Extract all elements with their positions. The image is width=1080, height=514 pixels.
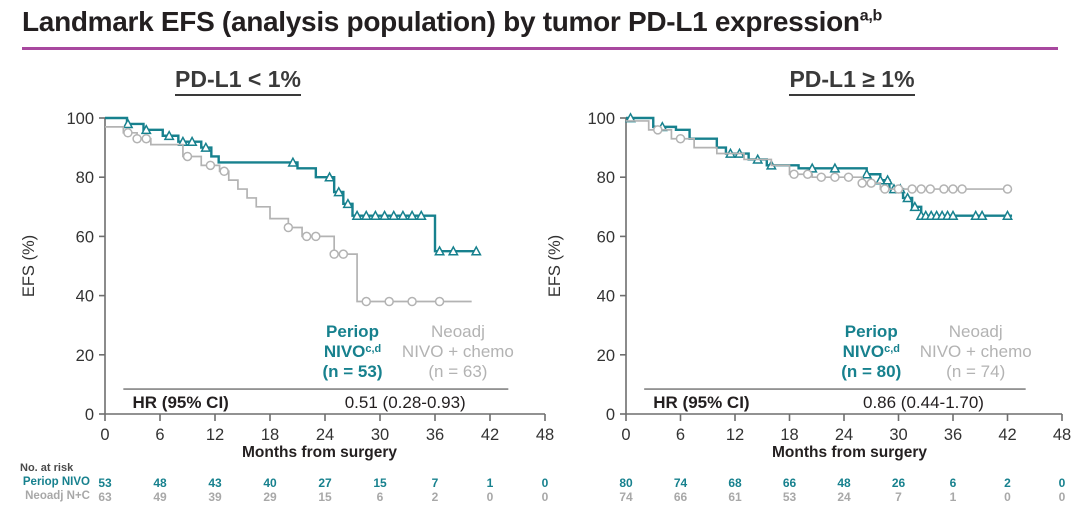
panel-pdl1-lt1: PD-L1 < 1% 020406080100EFS (%)0612182430… [0, 56, 560, 506]
page-title: Landmark EFS (analysis population) by tu… [22, 6, 1062, 38]
hr-value: 0.51 (0.28-0.93) [345, 393, 466, 412]
at-risk-value: 74 [669, 476, 693, 490]
at-risk-value: 39 [203, 490, 227, 504]
censor-mark-triangle [978, 211, 986, 219]
censor-mark-triangle [371, 211, 379, 219]
at-risk-value: 6 [368, 490, 392, 504]
legend-neoadj-line1: Neoadj [949, 322, 1003, 341]
censor-mark-triangle [417, 211, 425, 219]
at-risk-value: 29 [258, 490, 282, 504]
censor-mark-circle [362, 298, 370, 306]
hr-value: 0.86 (0.44-1.70) [863, 393, 984, 412]
censor-mark-circle [908, 185, 916, 193]
legend-periop-n: (n = 53) [323, 362, 383, 381]
y-tick-label: 60 [597, 228, 615, 246]
at-risk-value: 80 [614, 476, 638, 490]
y-tick-label: 0 [606, 406, 615, 424]
censor-mark-triangle [883, 176, 891, 184]
censor-mark-triangle [472, 247, 480, 255]
at-risk-value: 7 [887, 490, 911, 504]
at-risk-value: 66 [669, 490, 693, 504]
censor-mark-circle [330, 250, 338, 258]
censor-mark-triangle [325, 173, 333, 181]
at-risk-value: 0 [996, 490, 1020, 504]
censor-mark-circle [436, 298, 444, 306]
at-risk-value: 2 [423, 490, 447, 504]
censor-mark-triangle [831, 164, 839, 172]
legend-periop-line1: Periop [845, 322, 898, 341]
censor-mark-circle [958, 185, 966, 193]
x-axis-title-left: Months from surgery [242, 444, 397, 462]
legend-periop-n: (n = 80) [841, 362, 901, 381]
at-risk-value: 66 [778, 476, 802, 490]
censor-mark-circle [677, 135, 685, 143]
censor-mark-circle [184, 152, 192, 160]
at-risk-value: 43 [203, 476, 227, 490]
at-risk-row-label-periop: Periop NIVO [10, 476, 90, 488]
legend-neoadj-n: (n = 74) [946, 362, 1005, 381]
slide-root: Landmark EFS (analysis population) by tu… [0, 0, 1080, 514]
censor-mark-circle [284, 224, 292, 232]
at-risk-value: 1 [478, 476, 502, 490]
censor-mark-triangle [165, 132, 173, 140]
y-tick-label: 40 [597, 288, 615, 306]
km-curve-neoadj-chemo [105, 127, 472, 302]
censor-mark-circle [312, 232, 320, 240]
legend-periop-line2: NIVOc,d [843, 342, 900, 361]
censor-mark-circle [940, 185, 948, 193]
censor-mark-circle [917, 185, 925, 193]
at-risk-value: 48 [148, 476, 172, 490]
legend-periop-line1: Periop [326, 322, 379, 341]
km-curve-periop-nivo [626, 118, 1012, 216]
censor-mark-triangle [188, 137, 196, 145]
censor-mark-circle [220, 167, 228, 175]
censor-mark-triangle [903, 194, 911, 202]
censor-mark-triangle [335, 188, 343, 196]
legend-neoadj-n: (n = 63) [428, 362, 487, 381]
hr-label: HR (95% CI) [653, 393, 749, 412]
censor-mark-triangle [353, 211, 361, 219]
page-title-text: Landmark EFS (analysis population) by tu… [22, 6, 860, 37]
censor-mark-circle [895, 185, 903, 193]
y-axis-title: EFS (%) [20, 235, 38, 297]
censor-mark-triangle [390, 211, 398, 219]
censor-mark-circle [790, 170, 798, 178]
at-risk-value: 40 [258, 476, 282, 490]
at-risk-value: 63 [93, 490, 117, 504]
censor-mark-circle [654, 126, 662, 134]
x-axis-title-right: Months from surgery [772, 444, 927, 462]
at-risk-value: 15 [313, 490, 337, 504]
at-risk-value: 53 [93, 476, 117, 490]
censor-mark-circle [858, 179, 866, 187]
y-axis-title: EFS (%) [548, 235, 564, 297]
at-risk-value: 15 [368, 476, 392, 490]
censor-mark-circle [804, 170, 812, 178]
panel-pdl1-ge1: PD-L1 ≥ 1% 020406080100EFS (%)0612182430… [548, 56, 1080, 506]
censor-mark-circle [845, 173, 853, 181]
censor-mark-triangle [408, 211, 416, 219]
at-risk-value: 6 [941, 476, 965, 490]
at-risk-value: 53 [778, 490, 802, 504]
title-underline-rule [22, 47, 1058, 50]
censor-mark-triangle [380, 211, 388, 219]
y-tick-label: 80 [76, 169, 94, 187]
y-tick-label: 100 [66, 110, 94, 128]
censor-mark-triangle [863, 170, 871, 178]
panel-title-left: PD-L1 < 1% [0, 66, 518, 93]
km-plot-left: 020406080100EFS (%)0612182430364248Perio… [0, 104, 560, 464]
censor-mark-circle [206, 161, 214, 169]
y-tick-label: 80 [597, 169, 615, 187]
km-chart-svg-left: 020406080100EFS (%)0612182430364248Perio… [0, 104, 560, 464]
censor-mark-circle [339, 250, 347, 258]
censor-mark-triangle [362, 211, 370, 219]
censor-mark-triangle [949, 211, 957, 219]
at-risk-header: No. at risk [20, 462, 73, 474]
y-tick-label: 20 [76, 347, 94, 365]
at-risk-value: 0 [1050, 476, 1074, 490]
at-risk-value: 27 [313, 476, 337, 490]
censor-mark-triangle [1003, 211, 1011, 219]
at-risk-value: 61 [723, 490, 747, 504]
censor-mark-circle [881, 185, 889, 193]
at-risk-row-label-neoadj: Neoadj N+C [10, 490, 90, 502]
censor-mark-circle [867, 179, 875, 187]
censor-mark-circle [926, 185, 934, 193]
legend-periop-line2: NIVOc,d [324, 342, 381, 361]
y-tick-label: 100 [587, 110, 615, 128]
censor-mark-circle [303, 232, 311, 240]
y-tick-label: 60 [76, 228, 94, 246]
at-risk-value: 24 [832, 490, 856, 504]
censor-mark-circle [949, 185, 957, 193]
at-risk-area: Months from surgery Months from surgery … [0, 440, 1080, 514]
at-risk-value: 1 [941, 490, 965, 504]
censor-mark-circle [831, 173, 839, 181]
censor-mark-triangle [289, 158, 297, 166]
censor-mark-triangle [435, 247, 443, 255]
censor-mark-triangle [344, 200, 352, 208]
at-risk-value: 49 [148, 490, 172, 504]
y-tick-label: 0 [85, 406, 94, 424]
censor-mark-triangle [202, 143, 210, 151]
at-risk-value: 74 [614, 490, 638, 504]
legend-neoadj-line2: NIVO + chemo [402, 342, 514, 361]
censor-mark-circle [817, 173, 825, 181]
at-risk-value: 68 [723, 476, 747, 490]
hr-label: HR (95% CI) [133, 393, 229, 412]
legend-neoadj-line1: Neoadj [431, 322, 485, 341]
censor-mark-circle [124, 129, 132, 137]
km-chart-svg-right: 020406080100EFS (%)0612182430364248Perio… [548, 104, 1080, 464]
censor-mark-triangle [124, 120, 132, 128]
at-risk-value: 26 [887, 476, 911, 490]
at-risk-value: 7 [423, 476, 447, 490]
censor-mark-circle [1004, 185, 1012, 193]
y-tick-label: 20 [597, 347, 615, 365]
km-curve-neoadj-chemo [626, 121, 1008, 189]
at-risk-value: 0 [533, 476, 557, 490]
page-title-superscript: a,b [860, 8, 882, 25]
at-risk-value: 0 [533, 490, 557, 504]
at-risk-value: 48 [832, 476, 856, 490]
censor-mark-circle [133, 135, 141, 143]
censor-mark-circle [385, 298, 393, 306]
censor-mark-circle [142, 135, 150, 143]
y-tick-label: 40 [76, 288, 94, 306]
censor-mark-triangle [449, 247, 457, 255]
panel-title-right: PD-L1 ≥ 1% [586, 66, 1080, 93]
legend-neoadj-line2: NIVO + chemo [920, 342, 1032, 361]
at-risk-value: 0 [1050, 490, 1074, 504]
km-plot-right: 020406080100EFS (%)0612182430364248Perio… [548, 104, 1080, 464]
at-risk-value: 2 [996, 476, 1020, 490]
at-risk-value: 0 [478, 490, 502, 504]
censor-mark-circle [408, 298, 416, 306]
censor-mark-triangle [399, 211, 407, 219]
